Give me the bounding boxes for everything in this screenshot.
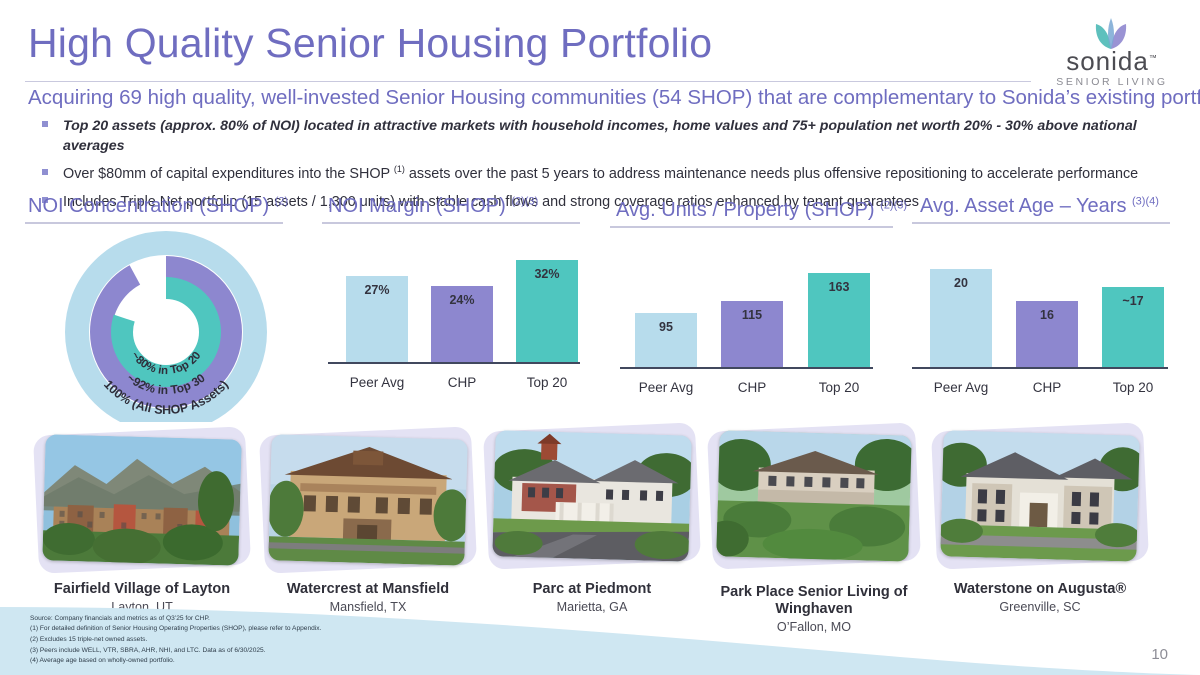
x-tick-chp: CHP — [1002, 380, 1092, 395]
logo-wordmark: sonida™ — [1052, 48, 1172, 74]
photo-image — [940, 430, 1139, 561]
subheadline: Acquiring 69 high quality, well-invested… — [28, 86, 1178, 110]
photo-image — [42, 434, 241, 565]
bar-value-label: 27% — [346, 283, 408, 297]
panel-title-text: NOI Concentration (SHOP) — [28, 195, 275, 217]
bar-value-label: 16 — [1016, 308, 1078, 322]
page-title: High Quality Senior Housing Portfolio — [28, 20, 712, 67]
x-tick-top-20: Top 20 — [502, 375, 592, 390]
bar-top-20: 163 — [808, 273, 870, 367]
photo-image — [268, 434, 467, 565]
bar-top-20: 32% — [516, 260, 578, 362]
avg-asset-age-bar-chart: 20 16 ~17 Peer Avg CHP Top 20 — [912, 255, 1168, 395]
property-photo-parc-piedmont — [494, 433, 690, 559]
footnote-source: Source: Company financials and metrics a… — [30, 614, 590, 625]
x-axis — [328, 362, 580, 364]
x-tick-peer-avg: Peer Avg — [621, 380, 711, 395]
donut-svg: ~80% in Top 20 ~92% in Top 30 100% (All … — [60, 226, 272, 422]
bar-value-label: 32% — [516, 267, 578, 281]
list-item: Top 20 assets (approx. 80% of NOI) locat… — [42, 116, 1182, 156]
panel-title-avg-units: Avg. Units / Property (SHOP) (2)(3) — [616, 199, 907, 222]
footnote-ref: (2)(3) — [880, 199, 907, 211]
x-tick-chp: CHP — [707, 380, 797, 395]
photo-image — [716, 430, 911, 561]
footnote-1: (1) For detailed definition of Senior Ho… — [30, 624, 590, 635]
bar-peer-avg: 95 — [635, 313, 697, 367]
property-photo-park-place — [718, 433, 910, 559]
title-divider — [25, 81, 1031, 82]
bullet-text: Top 20 assets (approx. 80% of NOI) locat… — [63, 118, 1137, 154]
bar-value-label: ~17 — [1102, 294, 1164, 308]
tulip-logo-icon — [1082, 14, 1140, 50]
bullet-text: Over $80mm of capital expenditures into … — [63, 166, 1138, 182]
list-item: Over $80mm of capital expenditures into … — [42, 164, 1182, 184]
x-tick-peer-avg: Peer Avg — [332, 375, 422, 390]
footnote-ref: (2) — [275, 195, 288, 207]
bullet-square-icon — [42, 121, 48, 127]
bar-top-20: ~17 — [1102, 287, 1164, 367]
bar-value-label: 20 — [930, 276, 992, 290]
slide: High Quality Senior Housing Portfolio so… — [0, 0, 1200, 675]
bar-peer-avg: 27% — [346, 276, 408, 362]
footnote-ref: (3)(4) — [1132, 195, 1159, 207]
panel-title-noi-concentration: NOI Concentration (SHOP) (2) — [28, 195, 288, 218]
x-tick-chp: CHP — [417, 375, 507, 390]
bullet-text-part-a: Over $80mm of capital expenditures into … — [63, 166, 394, 182]
panel-divider — [912, 222, 1170, 224]
bar-value-label: 115 — [721, 308, 783, 322]
avg-units-bar-chart: 95 115 163 Peer Avg CHP Top 20 — [620, 255, 873, 395]
noi-margin-bar-chart: 27% 24% 32% Peer Avg CHP Top 20 — [328, 240, 580, 390]
panel-title-text: NOI Margin (SHOP) — [328, 195, 511, 217]
panel-divider — [25, 222, 283, 224]
x-axis — [912, 367, 1168, 369]
panel-title-text: Avg. Units / Property (SHOP) — [616, 199, 880, 221]
sonida-logo: sonida™ SENIOR LIVING — [1052, 14, 1172, 86]
logo-tm: ™ — [1149, 53, 1158, 62]
property-photo-watercrest — [270, 437, 466, 563]
panel-title-noi-margin: NOI Margin (SHOP) (2)(3) — [328, 195, 538, 218]
panel-title-avg-asset-age: Avg. Asset Age – Years (3)(4) — [920, 195, 1159, 218]
panel-divider — [610, 226, 893, 228]
footnote-ref: (1) — [394, 164, 405, 174]
bar-peer-avg: 20 — [930, 269, 992, 367]
x-tick-peer-avg: Peer Avg — [916, 380, 1006, 395]
photo-image — [492, 430, 691, 561]
property-photo-waterstone — [942, 433, 1138, 559]
panel-title-text: Avg. Asset Age – Years — [920, 195, 1132, 217]
bar-value-label: 24% — [431, 293, 493, 307]
property-photo-fairfield — [44, 437, 240, 563]
page-number: 10 — [1151, 646, 1168, 663]
panel-divider — [322, 222, 580, 224]
noi-concentration-donut-chart: ~80% in Top 20 ~92% in Top 30 100% (All … — [60, 226, 272, 422]
bar-value-label: 163 — [808, 280, 870, 294]
footnotes-block: Source: Company financials and metrics a… — [30, 614, 590, 667]
bar-chp: 115 — [721, 301, 783, 367]
bullet-text-part-b: assets over the past 5 years to address … — [405, 166, 1138, 182]
bar-value-label: 95 — [635, 320, 697, 334]
footnote-2: (2) Excludes 15 triple-net owned assets. — [30, 635, 590, 646]
x-tick-top-20: Top 20 — [1088, 380, 1178, 395]
footnote-4: (4) Average age based on wholly-owned po… — [30, 656, 590, 667]
bar-chp: 24% — [431, 286, 493, 362]
x-axis — [620, 367, 873, 369]
logo-word-text: sonida — [1066, 46, 1149, 76]
bar-chp: 16 — [1016, 301, 1078, 367]
x-tick-top-20: Top 20 — [794, 380, 884, 395]
footnote-3: (3) Peers include WELL, VTR, SBRA, AHR, … — [30, 646, 590, 657]
footnote-ref: (2)(3) — [511, 195, 538, 207]
bullet-square-icon — [42, 169, 48, 175]
